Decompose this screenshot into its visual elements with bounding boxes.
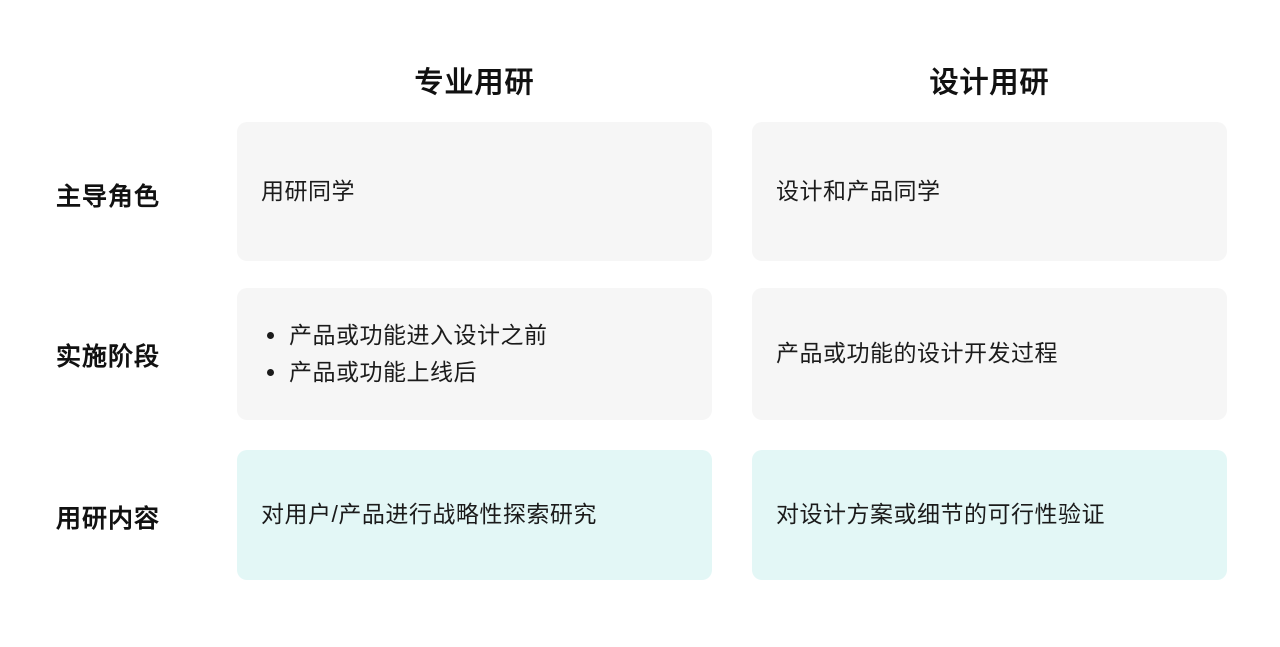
cell-leading-role-professional: 用研同学 xyxy=(237,122,712,261)
bullet-list: 产品或功能进入设计之前 产品或功能上线后 xyxy=(261,317,688,392)
column-header-row: 专业用研 设计用研 xyxy=(0,52,1280,108)
cell-leading-role-design: 设计和产品同学 xyxy=(752,122,1227,261)
row-label-research-content: 用研内容 xyxy=(56,497,231,537)
column-header-design-research: 设计用研 xyxy=(752,52,1227,108)
row-label-implementation-stage: 实施阶段 xyxy=(56,335,231,375)
column-header-professional-research: 专业用研 xyxy=(237,52,712,108)
cell-research-content-professional: 对用户/产品进行战略性探索研究 xyxy=(237,450,712,580)
cell-text: 对设计方案或细节的可行性验证 xyxy=(776,498,1203,531)
list-item: 产品或功能上线后 xyxy=(261,354,688,391)
cell-text: 产品或功能的设计开发过程 xyxy=(776,337,1203,370)
cell-text: 用研同学 xyxy=(261,175,688,208)
cell-research-content-design: 对设计方案或细节的可行性验证 xyxy=(752,450,1227,580)
row-label-leading-role: 主导角色 xyxy=(56,175,231,215)
cell-text: 对用户/产品进行战略性探索研究 xyxy=(261,498,688,531)
list-item: 产品或功能进入设计之前 xyxy=(261,317,688,354)
cell-implementation-stage-professional: 产品或功能进入设计之前 产品或功能上线后 xyxy=(237,288,712,420)
comparison-table: 专业用研 设计用研 主导角色 实施阶段 用研内容 用研同学 设计和产品同学 产品… xyxy=(0,0,1280,647)
cell-text: 设计和产品同学 xyxy=(776,175,1203,208)
cell-implementation-stage-design: 产品或功能的设计开发过程 xyxy=(752,288,1227,420)
